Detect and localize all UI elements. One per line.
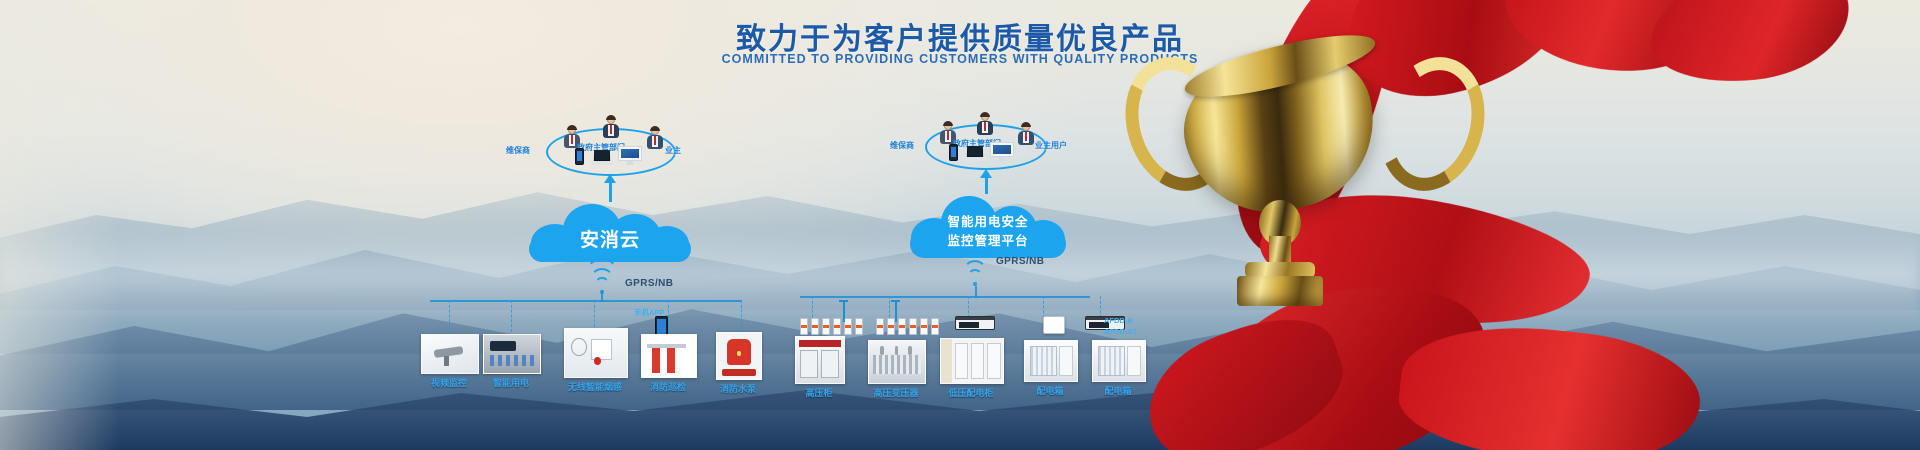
device-label: 高压柜 bbox=[805, 386, 832, 399]
right-platform-line1: 智能用电安全 bbox=[907, 211, 1069, 230]
laptop-icon bbox=[964, 146, 986, 161]
right-branch-4 bbox=[1043, 296, 1044, 318]
right-wireless-icon bbox=[958, 264, 992, 286]
right-user-label-3: 业主用户 bbox=[1035, 140, 1067, 151]
pylon-icon bbox=[887, 300, 905, 322]
gold-trophy bbox=[1185, 50, 1425, 320]
right-bus-drop bbox=[975, 286, 977, 298]
promo-banner: 致力于为客户提供质量优良产品 COMMITTED TO PROVIDING CU… bbox=[0, 0, 1920, 450]
left-platform-name: 安消云 bbox=[525, 225, 695, 252]
right-platform-line2: 监控管理平台 bbox=[907, 230, 1069, 249]
person-owner bbox=[1018, 123, 1034, 145]
right-bus-line bbox=[800, 296, 1090, 298]
right-uplink-label: GPRS/NB bbox=[996, 256, 1044, 267]
device-label: 高压变压器 bbox=[873, 386, 918, 399]
breaker-bank-2 bbox=[876, 318, 939, 335]
right-user-label-1: 维保商 bbox=[890, 140, 914, 151]
right-cloud-platform: 智能用电安全 监控管理平台 bbox=[907, 192, 1069, 258]
right-branch-5 bbox=[1100, 296, 1101, 318]
meter-icon bbox=[955, 316, 995, 330]
device-label: 配电箱 bbox=[1104, 384, 1131, 397]
monitor-icon bbox=[990, 142, 1014, 161]
pylon-icon bbox=[835, 300, 853, 322]
trophy-base-lower bbox=[1237, 276, 1323, 306]
device-label: 低压配电柜 bbox=[948, 386, 993, 399]
person-government bbox=[977, 113, 993, 135]
phone-icon bbox=[949, 144, 958, 161]
device-label: 配电箱 bbox=[1036, 384, 1063, 397]
right-branch-3 bbox=[968, 296, 969, 318]
tech-label-1: AFDD-B bbox=[1104, 316, 1133, 325]
small-module-icon bbox=[1043, 316, 1065, 334]
right-uplink-arrow bbox=[980, 169, 992, 178]
breaker-bank-1 bbox=[800, 318, 863, 335]
tech-label-2: AFDD-A1 bbox=[1104, 327, 1137, 336]
